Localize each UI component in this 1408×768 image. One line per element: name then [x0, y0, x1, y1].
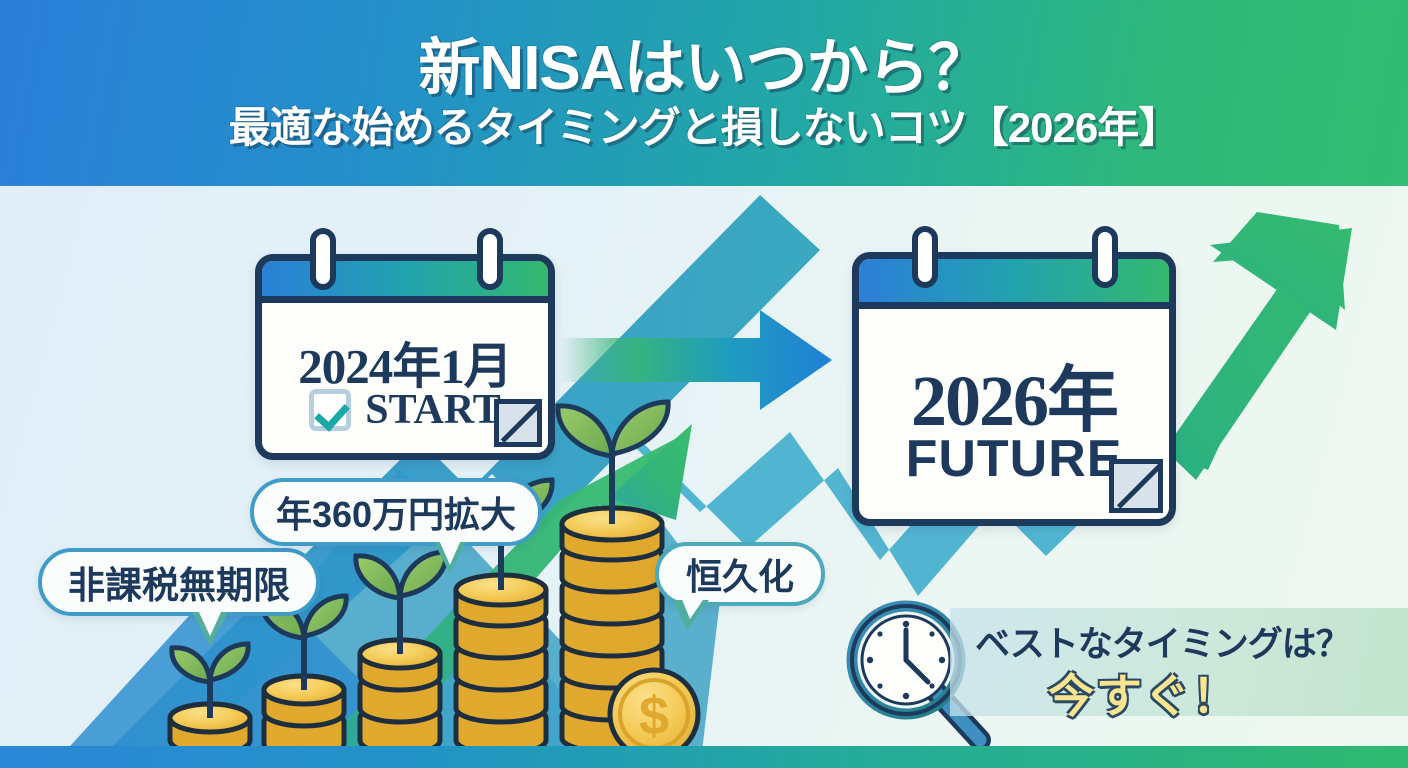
- calendar-header-band: [262, 261, 548, 303]
- bubble-permanent: 恒久化: [655, 542, 825, 606]
- calendar-body: 2024年1月 START: [255, 254, 555, 460]
- page-title: 新NISAはいつから？: [418, 36, 989, 101]
- bubble-tail-icon: [434, 542, 466, 574]
- bubble-tail-icon: [192, 612, 228, 646]
- infographic-canvas: $ 新NISAはいつから？ 最適な始めるタイミングと損しないコツ【2026年】: [0, 0, 1408, 768]
- dollar-coin-icon: $: [610, 670, 698, 758]
- page-subtitle: 最適な始めるタイミングと損しないコツ【2026年】: [229, 106, 1179, 150]
- bubble-tax-free: 非課税無期限: [38, 548, 320, 616]
- calendar-status-label: START: [365, 389, 500, 431]
- calendar-card-2024: 2024年1月 START: [255, 228, 555, 460]
- header-banner: 新NISAはいつから？ 最適な始めるタイミングと損しないコツ【2026年】: [0, 0, 1408, 186]
- svg-text:$: $: [639, 686, 669, 746]
- calendar-ring-left-icon: [310, 228, 336, 290]
- calendar-ring-right-icon: [477, 228, 503, 290]
- bubble-label: 非課税無期限: [68, 555, 290, 609]
- arrow-up-right-large-icon: [1163, 212, 1352, 480]
- checkbox-checked-icon: [309, 389, 351, 431]
- bubble-annual-limit: 年360万円拡大: [250, 478, 542, 546]
- calendar-body: 2026年 FUTURE: [852, 252, 1176, 526]
- calendar-card-2026: 2026年 FUTURE: [852, 226, 1176, 526]
- coin-stack-3: [356, 552, 446, 754]
- calendar-ring-left-icon: [912, 226, 938, 288]
- calendar-ring-right-icon: [1092, 226, 1118, 288]
- bubble-label: 恒久化: [686, 548, 794, 600]
- bubble-label: 年360万円拡大: [276, 486, 516, 538]
- bottom-accent-bar: [0, 746, 1408, 768]
- calendar-corner-fold-icon: [1109, 459, 1163, 513]
- calendar-corner-fold-icon: [494, 399, 542, 447]
- callout-answer: 今すぐ！: [1048, 660, 1408, 726]
- bubble-tail-icon: [673, 600, 709, 630]
- calendar-header-band: [859, 259, 1169, 309]
